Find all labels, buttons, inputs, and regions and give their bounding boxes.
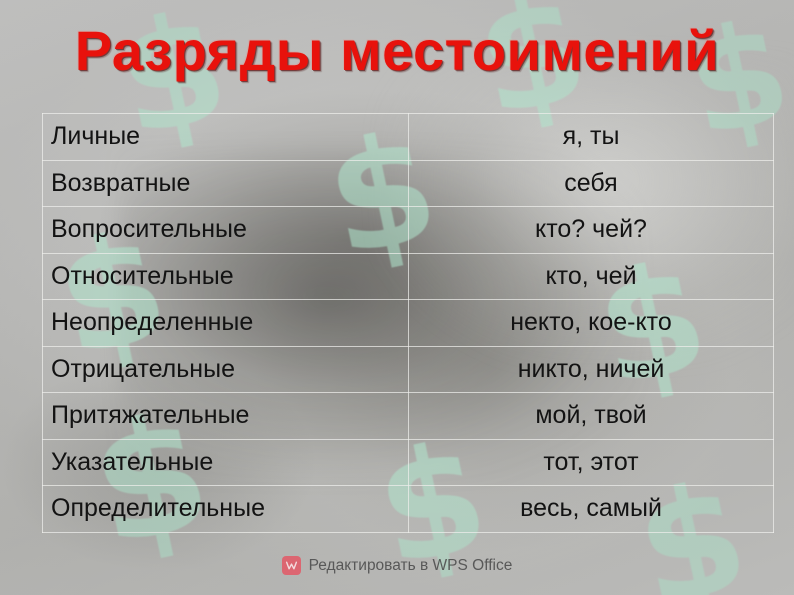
pronoun-category-cell: Вопросительные (43, 207, 409, 254)
table-row: Неопределенныенекто, кое-кто (43, 300, 774, 347)
pronoun-example-cell: некто, кое-кто (409, 300, 774, 347)
table-row: Личныея, ты (43, 114, 774, 161)
pronoun-example-cell: никто, ничей (409, 346, 774, 393)
table-row: Возвратныесебя (43, 160, 774, 207)
pronoun-example-cell: мой, твой (409, 393, 774, 440)
pronoun-category-cell: Личные (43, 114, 409, 161)
slide-canvas: $$$$$$$$$ Разряды местоимений Личныея, т… (0, 0, 794, 595)
table-row: Притяжательныемой, твой (43, 393, 774, 440)
page-title: Разряды местоимений (0, 18, 794, 83)
table-row: Определительныевесь, самый (43, 486, 774, 533)
pronoun-example-cell: себя (409, 160, 774, 207)
pronoun-example-cell: кто? чей? (409, 207, 774, 254)
table-row: Вопросительныекто? чей? (43, 207, 774, 254)
table-row: Указательныетот, этот (43, 439, 774, 486)
pronoun-example-cell: тот, этот (409, 439, 774, 486)
pronoun-category-cell: Неопределенные (43, 300, 409, 347)
table-row: Относительныекто, чей (43, 253, 774, 300)
pronoun-category-cell: Отрицательные (43, 346, 409, 393)
wps-edit-footer[interactable]: Редактировать в WPS Office (0, 556, 794, 575)
wps-office-icon (282, 556, 301, 575)
pronoun-example-cell: я, ты (409, 114, 774, 161)
pronoun-category-cell: Определительные (43, 486, 409, 533)
pronoun-category-cell: Возвратные (43, 160, 409, 207)
pronoun-category-cell: Притяжательные (43, 393, 409, 440)
pronoun-categories-table: Личныея, тыВозвратныесебяВопросительныек… (42, 113, 774, 533)
pronoun-example-cell: весь, самый (409, 486, 774, 533)
pronoun-category-cell: Относительные (43, 253, 409, 300)
pronoun-category-cell: Указательные (43, 439, 409, 486)
table-row: Отрицательныеникто, ничей (43, 346, 774, 393)
wps-edit-footer-label: Редактировать в WPS Office (309, 557, 513, 575)
pronoun-example-cell: кто, чей (409, 253, 774, 300)
